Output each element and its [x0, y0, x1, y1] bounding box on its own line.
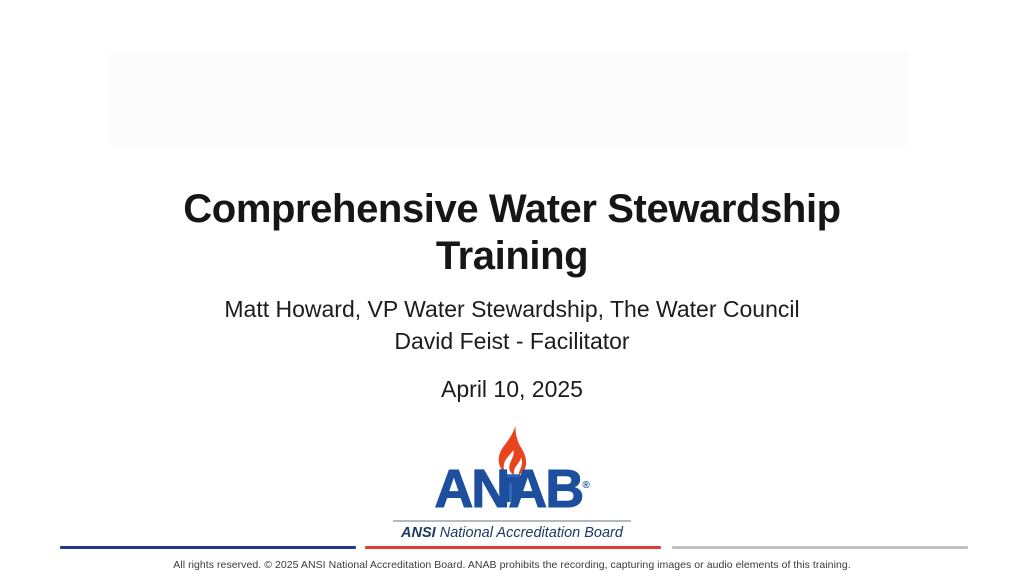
presenter-block: Matt Howard, VP Water Stewardship, The W…	[0, 294, 1024, 357]
background-watermark-band	[110, 52, 910, 147]
anab-logo: ANAB® ANSI National Accreditation Board	[387, 424, 637, 542]
presenter-line-facilitator: David Feist - Facilitator	[0, 326, 1024, 358]
footer-copyright-note: All rights reserved. © 2025 ANSI Nationa…	[0, 559, 1024, 571]
anab-tagline: ANSI National Accreditation Board	[387, 525, 637, 541]
logo-divider-rule	[393, 520, 631, 522]
presenter-line-primary: Matt Howard, VP Water Stewardship, The W…	[0, 294, 1024, 326]
footer-rule-gray	[672, 546, 968, 549]
anab-tagline-rest: National Accreditation Board	[440, 525, 623, 541]
footer-rule-blue	[60, 546, 356, 549]
anab-wordmark-text: ANAB	[434, 459, 582, 519]
anab-wordmark: ANAB®	[387, 462, 637, 516]
presentation-slide: Comprehensive Water Stewardship Training…	[0, 0, 1024, 577]
page-title: Comprehensive Water Stewardship Training	[162, 186, 862, 280]
footer-rule-red	[365, 546, 661, 549]
title-block: Comprehensive Water Stewardship Training	[0, 186, 1024, 280]
slide-date: April 10, 2025	[0, 376, 1024, 403]
anab-tagline-ansi: ANSI	[401, 525, 436, 541]
anab-logo-mark: ANAB®	[387, 424, 637, 519]
registered-trademark-mark: ®	[582, 480, 589, 491]
